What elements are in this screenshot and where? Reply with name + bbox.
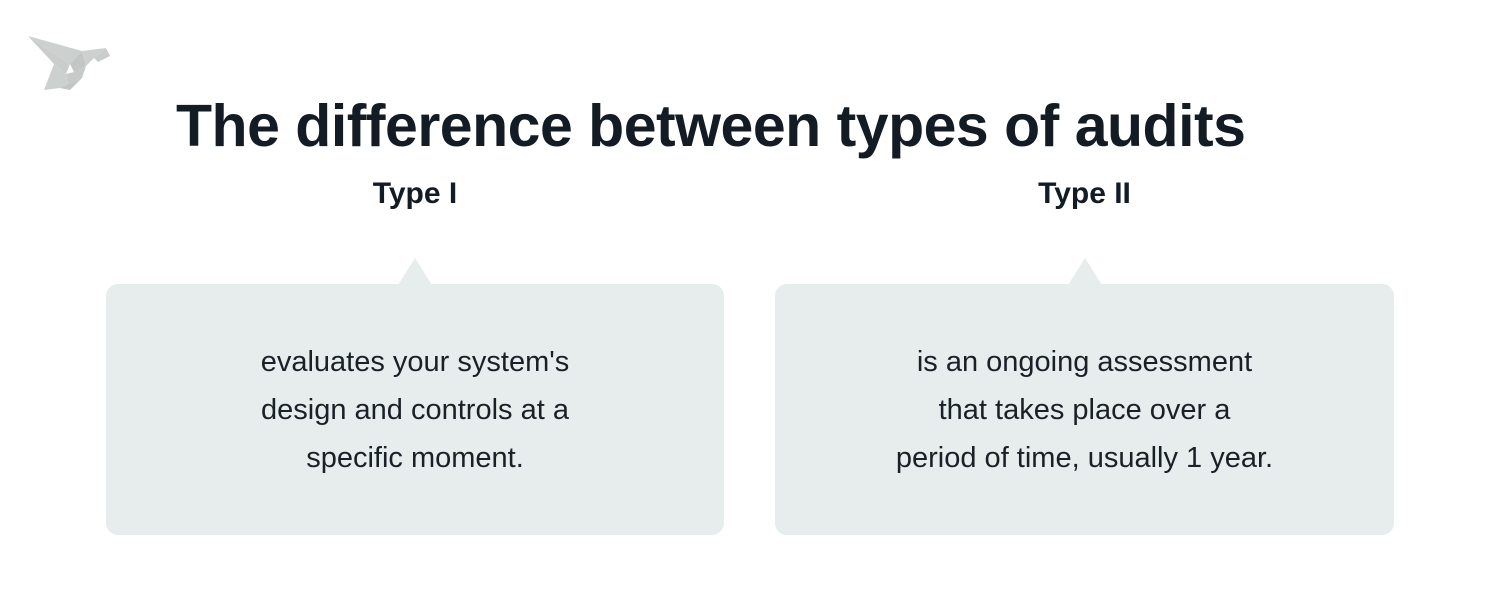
bubble-body-type-2: is an ongoing assessment that takes plac… — [775, 284, 1394, 535]
bubble-tail-icon — [1068, 258, 1102, 285]
bubble-text-type-2: is an ongoing assessment that takes plac… — [896, 338, 1273, 482]
speech-bubble-type-1: evaluates your system's design and contr… — [106, 284, 724, 535]
slide-canvas: The difference between types of audits T… — [0, 0, 1500, 600]
bubble-tail-icon — [398, 258, 432, 285]
origami-crane-logo — [24, 26, 112, 94]
column-heading-type-1: Type I — [106, 176, 724, 214]
bubble-text-type-1: evaluates your system's design and contr… — [261, 338, 570, 482]
column-heading-type-2: Type II — [775, 176, 1394, 214]
speech-bubble-type-2: is an ongoing assessment that takes plac… — [775, 284, 1394, 535]
column-type-2: Type II is an ongoing assessment that ta… — [775, 176, 1394, 535]
page-title: The difference between types of audits — [176, 94, 1245, 159]
bubble-body-type-1: evaluates your system's design and contr… — [106, 284, 724, 535]
column-type-1: Type I evaluates your system's design an… — [106, 176, 724, 535]
